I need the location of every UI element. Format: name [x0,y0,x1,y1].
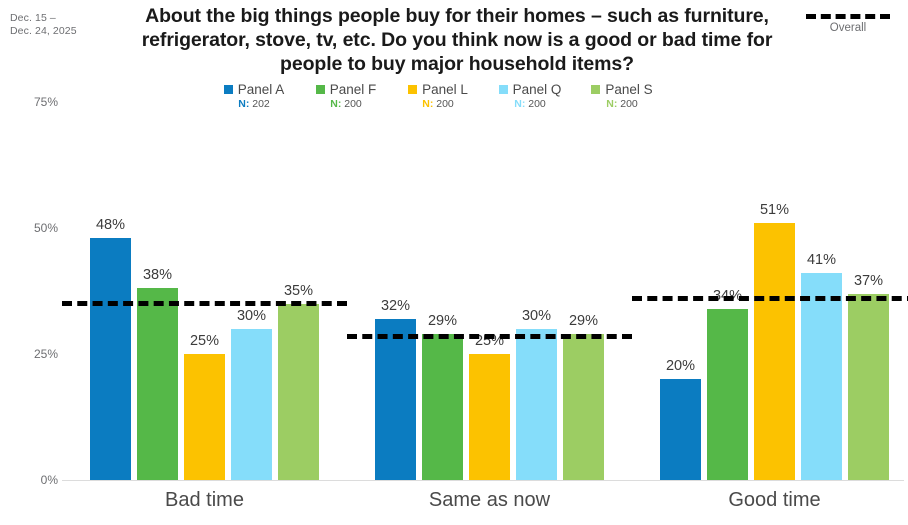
bar[interactable] [563,334,604,480]
bar[interactable] [848,294,889,480]
bar-value-label: 29% [428,313,457,329]
x-axis-category-label: Good time [728,489,820,512]
bar-chart-plot: 0%25%50%75%48%38%25%30%35%Bad time32%29%… [0,0,908,525]
bar-value-label: 32% [381,298,410,314]
bar-value-label: 35% [284,283,313,299]
bar[interactable] [90,238,131,480]
bar-value-label: 30% [237,308,266,324]
bar[interactable] [801,273,842,480]
bar[interactable] [754,223,795,480]
bar-value-label: 30% [522,308,551,324]
bar[interactable] [278,304,319,480]
overall-reference-line [632,296,908,301]
x-axis-baseline [62,480,904,481]
bar-value-label: 41% [807,252,836,268]
bar[interactable] [231,329,272,480]
overall-reference-line [347,334,632,339]
x-axis-category-label: Bad time [165,489,244,512]
bar[interactable] [137,288,178,480]
bar-value-label: 37% [854,273,883,289]
bar[interactable] [469,354,510,480]
bar[interactable] [516,329,557,480]
bar[interactable] [660,379,701,480]
bar-value-label: 25% [190,333,219,349]
bar-value-label: 48% [96,217,125,233]
bar-value-label: 51% [760,202,789,218]
y-axis-tick-label: 75% [10,95,58,109]
bar[interactable] [184,354,225,480]
bar[interactable] [375,319,416,480]
bar-value-label: 38% [143,267,172,283]
bar[interactable] [422,334,463,480]
bar-value-label: 29% [569,313,598,329]
overall-reference-line [62,301,347,306]
y-axis-tick-label: 25% [10,347,58,361]
y-axis-tick-label: 0% [10,473,58,487]
y-axis-tick-label: 50% [10,221,58,235]
bar-value-label: 20% [666,358,695,374]
x-axis-category-label: Same as now [429,489,550,512]
bar[interactable] [707,309,748,480]
